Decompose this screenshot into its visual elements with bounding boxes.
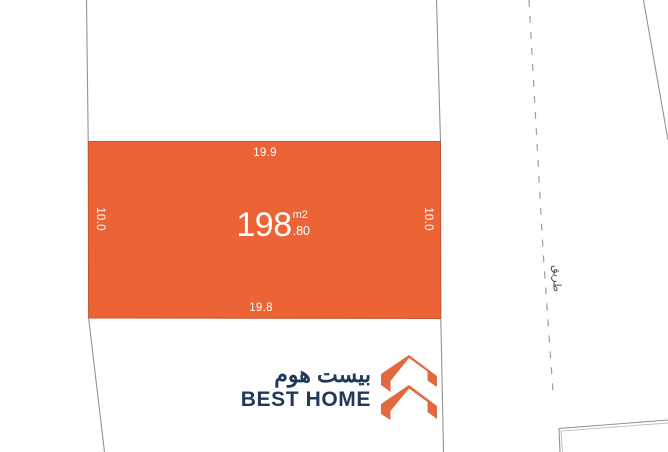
parcel-area-value: 198 [236, 206, 291, 244]
parcel-area-unit: m2 [293, 210, 308, 221]
brand-name-english: BEST HOME [241, 388, 371, 412]
brand-logo: بيست هوم BEST HOME [222, 352, 438, 422]
brand-name-arabic: بيست هوم [274, 362, 371, 387]
road-centerline-dashed [529, 0, 553, 392]
plot-map-canvas: 19.9 19.8 10.0 10.0 198m2.80 طريق بيست ه… [0, 0, 668, 452]
boundary-line-left-upper [87, 0, 89, 141]
brand-logo-text: بيست هوم BEST HOME [241, 362, 371, 411]
boundary-parcel-bottom-right [559, 420, 668, 452]
parcel-area-label: 198m2.80 [0, 208, 528, 242]
dimension-label-top: 19.9 [232, 147, 298, 159]
road-name-label: طريق [551, 256, 564, 302]
dimension-label-bottom: 19.8 [228, 302, 294, 314]
parcel-area-decimal: .80 [293, 225, 310, 238]
boundary-line-left-lower [89, 318, 105, 452]
double-chevron-house-icon [380, 354, 438, 420]
boundary-line-right-upper [437, 0, 441, 141]
boundary-line-right-lower [441, 318, 444, 452]
road-edge-right [644, 0, 668, 140]
